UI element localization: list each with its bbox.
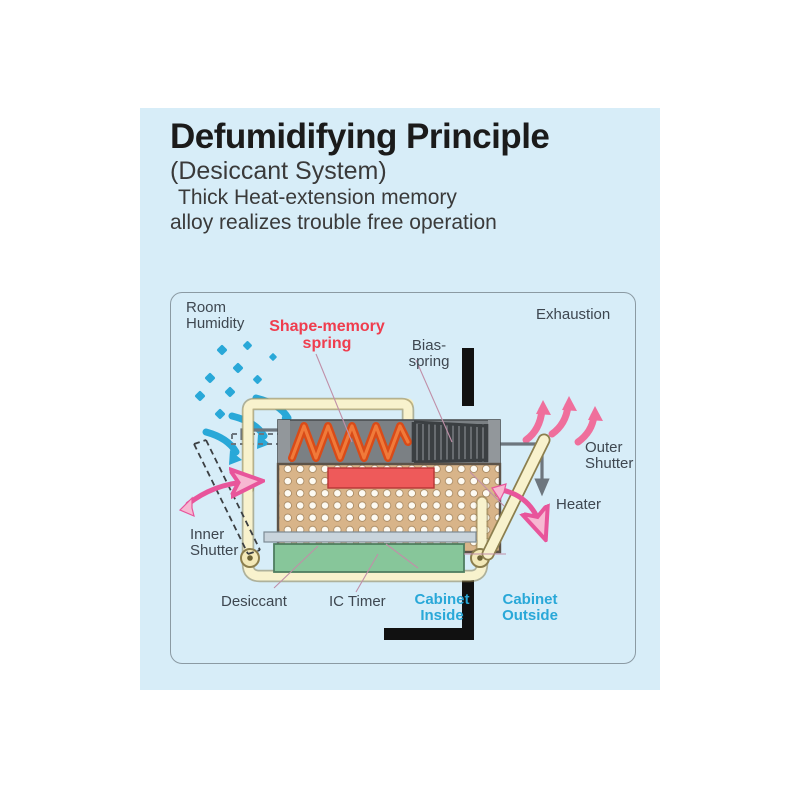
- inner-shutter-swing-arrow: [188, 482, 246, 504]
- label-outer-shutter-line1: Outer: [585, 439, 623, 456]
- label-room-humidity: RoomHumidity: [186, 300, 244, 332]
- label-outer-shutter-line2: Shutter: [585, 455, 633, 472]
- label-bias-spring-line2: spring: [409, 353, 450, 370]
- bias-spring: [414, 422, 486, 462]
- tagline-line-1: Thick Heat-extension memory: [170, 186, 650, 211]
- tagline-line-2: alloy realizes trouble free operation: [170, 211, 650, 236]
- label-bias-spring: Bias-spring: [400, 338, 458, 370]
- label-cabinet-inside-line2: Inside: [420, 607, 463, 624]
- page-title: Defumidifying Principle: [170, 118, 650, 155]
- label-shape-memory-line1: Shape-memory: [269, 318, 385, 335]
- label-exhaustion: Exhaustion: [536, 307, 610, 323]
- label-outer-shutter: OuterShutter: [585, 440, 633, 472]
- label-cabinet-outside: CabinetOutside: [497, 592, 563, 624]
- label-desiccant: Desiccant: [221, 594, 287, 610]
- page-subtitle: (Desiccant System): [170, 157, 650, 185]
- heading-block: Defumidifying Principle (Desiccant Syste…: [170, 118, 650, 236]
- exhaustion-arrows: [526, 406, 594, 442]
- label-inner-shutter-line1: Inner: [190, 526, 224, 543]
- label-cabinet-inside-line1: Cabinet: [414, 591, 469, 608]
- label-room-humidity-line2: Humidity: [186, 315, 244, 332]
- label-shape-memory-spring: Shape-memoryspring: [262, 318, 392, 353]
- label-cabinet-inside: CabinetInside: [411, 592, 473, 624]
- label-inner-shutter-line2: Shutter: [190, 542, 238, 559]
- label-bias-spring-line1: Bias-: [412, 337, 446, 354]
- ic-timer-board: [264, 532, 476, 572]
- label-heater: Heater: [556, 497, 601, 513]
- screenshot-root: Defumidifying Principle (Desiccant Syste…: [0, 0, 800, 800]
- heater-bar: [328, 468, 434, 488]
- label-ic-timer: IC Timer: [329, 594, 386, 610]
- label-room-humidity-line1: Room: [186, 299, 226, 316]
- exhaustion-arrow-heads: [536, 396, 603, 421]
- label-shape-memory-line2: spring: [303, 335, 352, 352]
- inner-shutter-swing-arrow-tail: [180, 498, 194, 516]
- label-inner-shutter: InnerShutter: [190, 527, 238, 559]
- label-cabinet-outside-line1: Cabinet: [502, 591, 557, 608]
- label-cabinet-outside-line2: Outside: [502, 607, 558, 624]
